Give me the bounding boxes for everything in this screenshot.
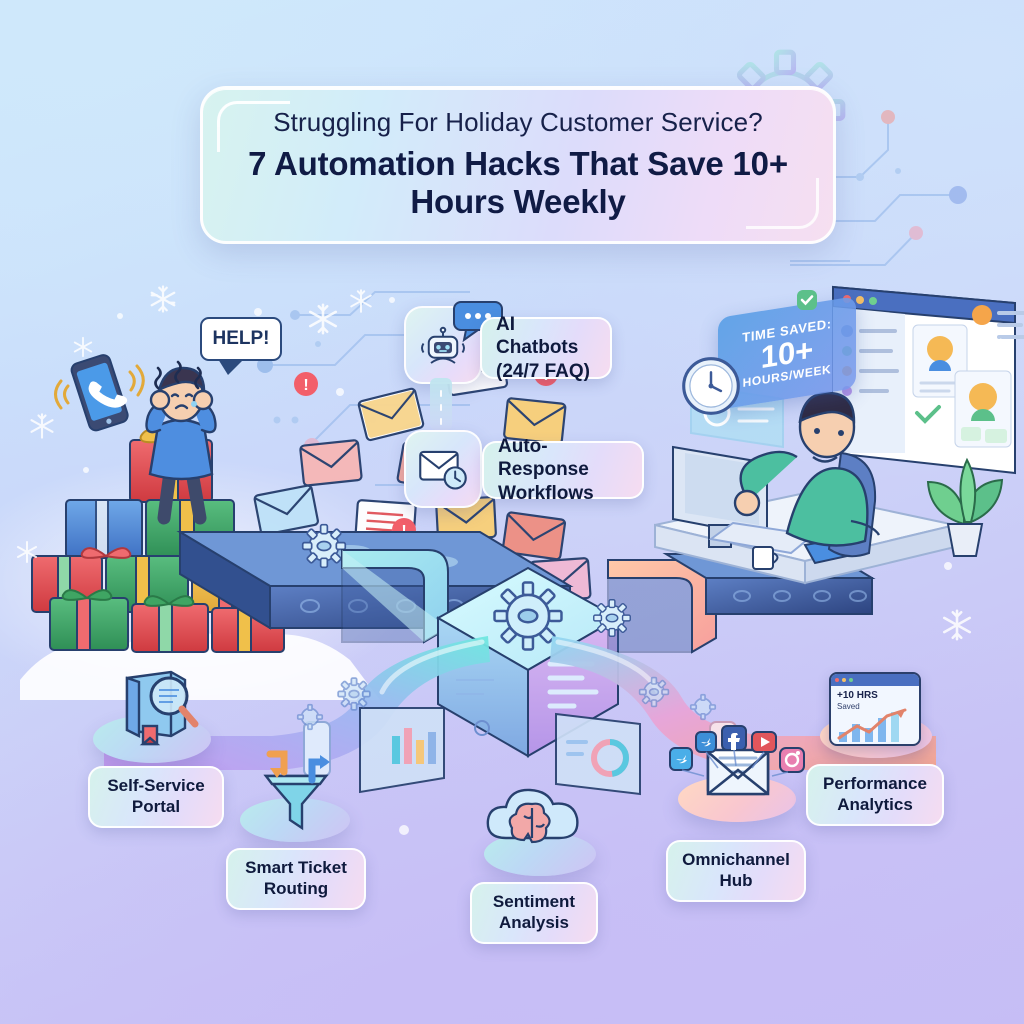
- infographic-canvas: Struggling For Holiday Customer Service?…: [0, 0, 1024, 1024]
- decorative-dots: [0, 0, 1024, 1024]
